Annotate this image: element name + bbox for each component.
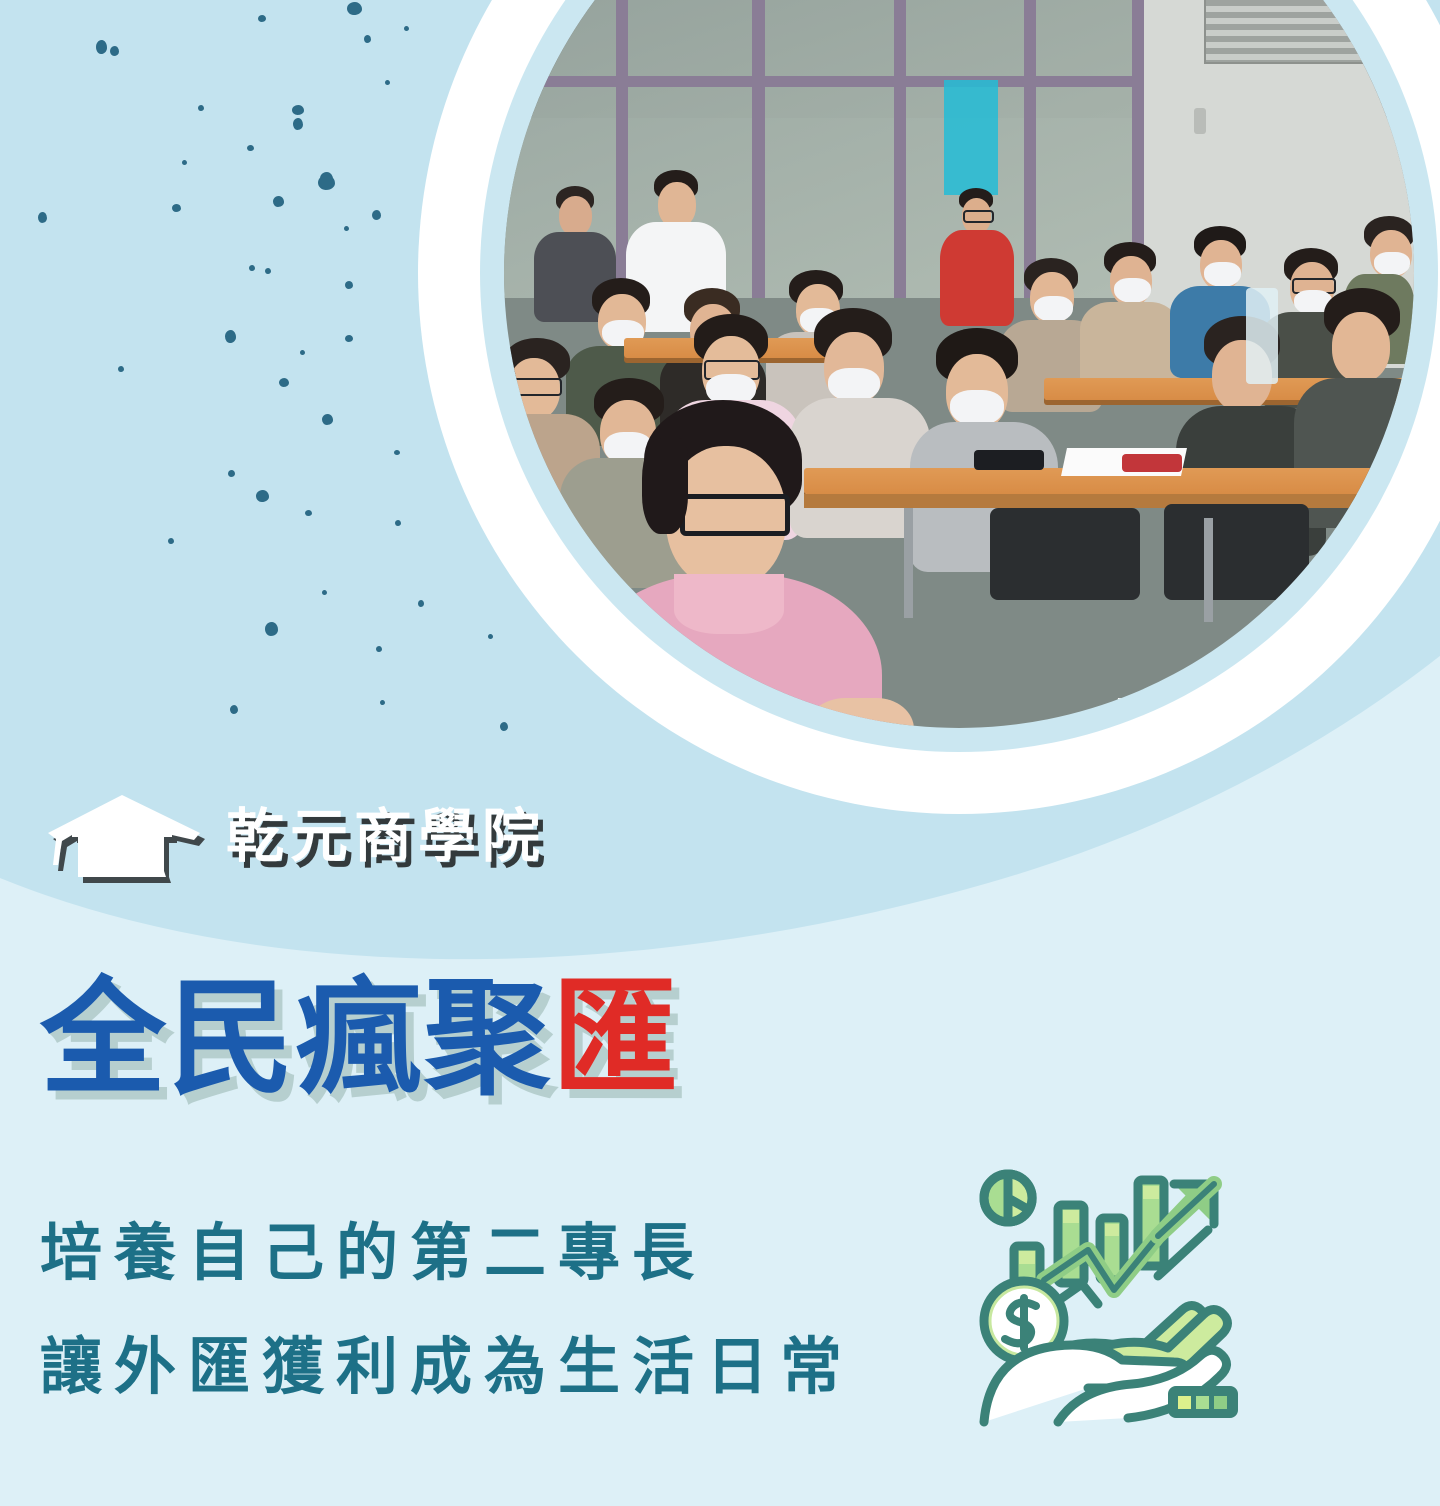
page-title: 全民瘋聚匯 bbox=[40, 972, 680, 1106]
subtitle-line-2: 讓外匯獲利成為生活日常 bbox=[40, 1336, 854, 1398]
hand-holding-money-growth-icon bbox=[962, 1158, 1252, 1448]
headline-red-part: 匯 bbox=[552, 965, 680, 1112]
dots-bar-icon bbox=[1168, 1386, 1238, 1418]
ceiling-vent bbox=[1204, 0, 1408, 64]
brand-logo[interactable]: 乾元商學院 bbox=[44, 793, 546, 879]
promo-poster: 乾元商學院 全民瘋聚匯 培養自己的第二專長 讓外匯獲利成為生活日常 bbox=[0, 0, 1440, 1506]
brand-name: 乾元商學院 bbox=[226, 807, 546, 865]
circular-photo-frame bbox=[418, 0, 1440, 814]
subtitle-line-1: 培養自己的第二專長 bbox=[40, 1222, 706, 1284]
headline-blue-part: 全民瘋聚 bbox=[40, 965, 552, 1112]
graduation-cap-academy-icon bbox=[44, 793, 204, 879]
